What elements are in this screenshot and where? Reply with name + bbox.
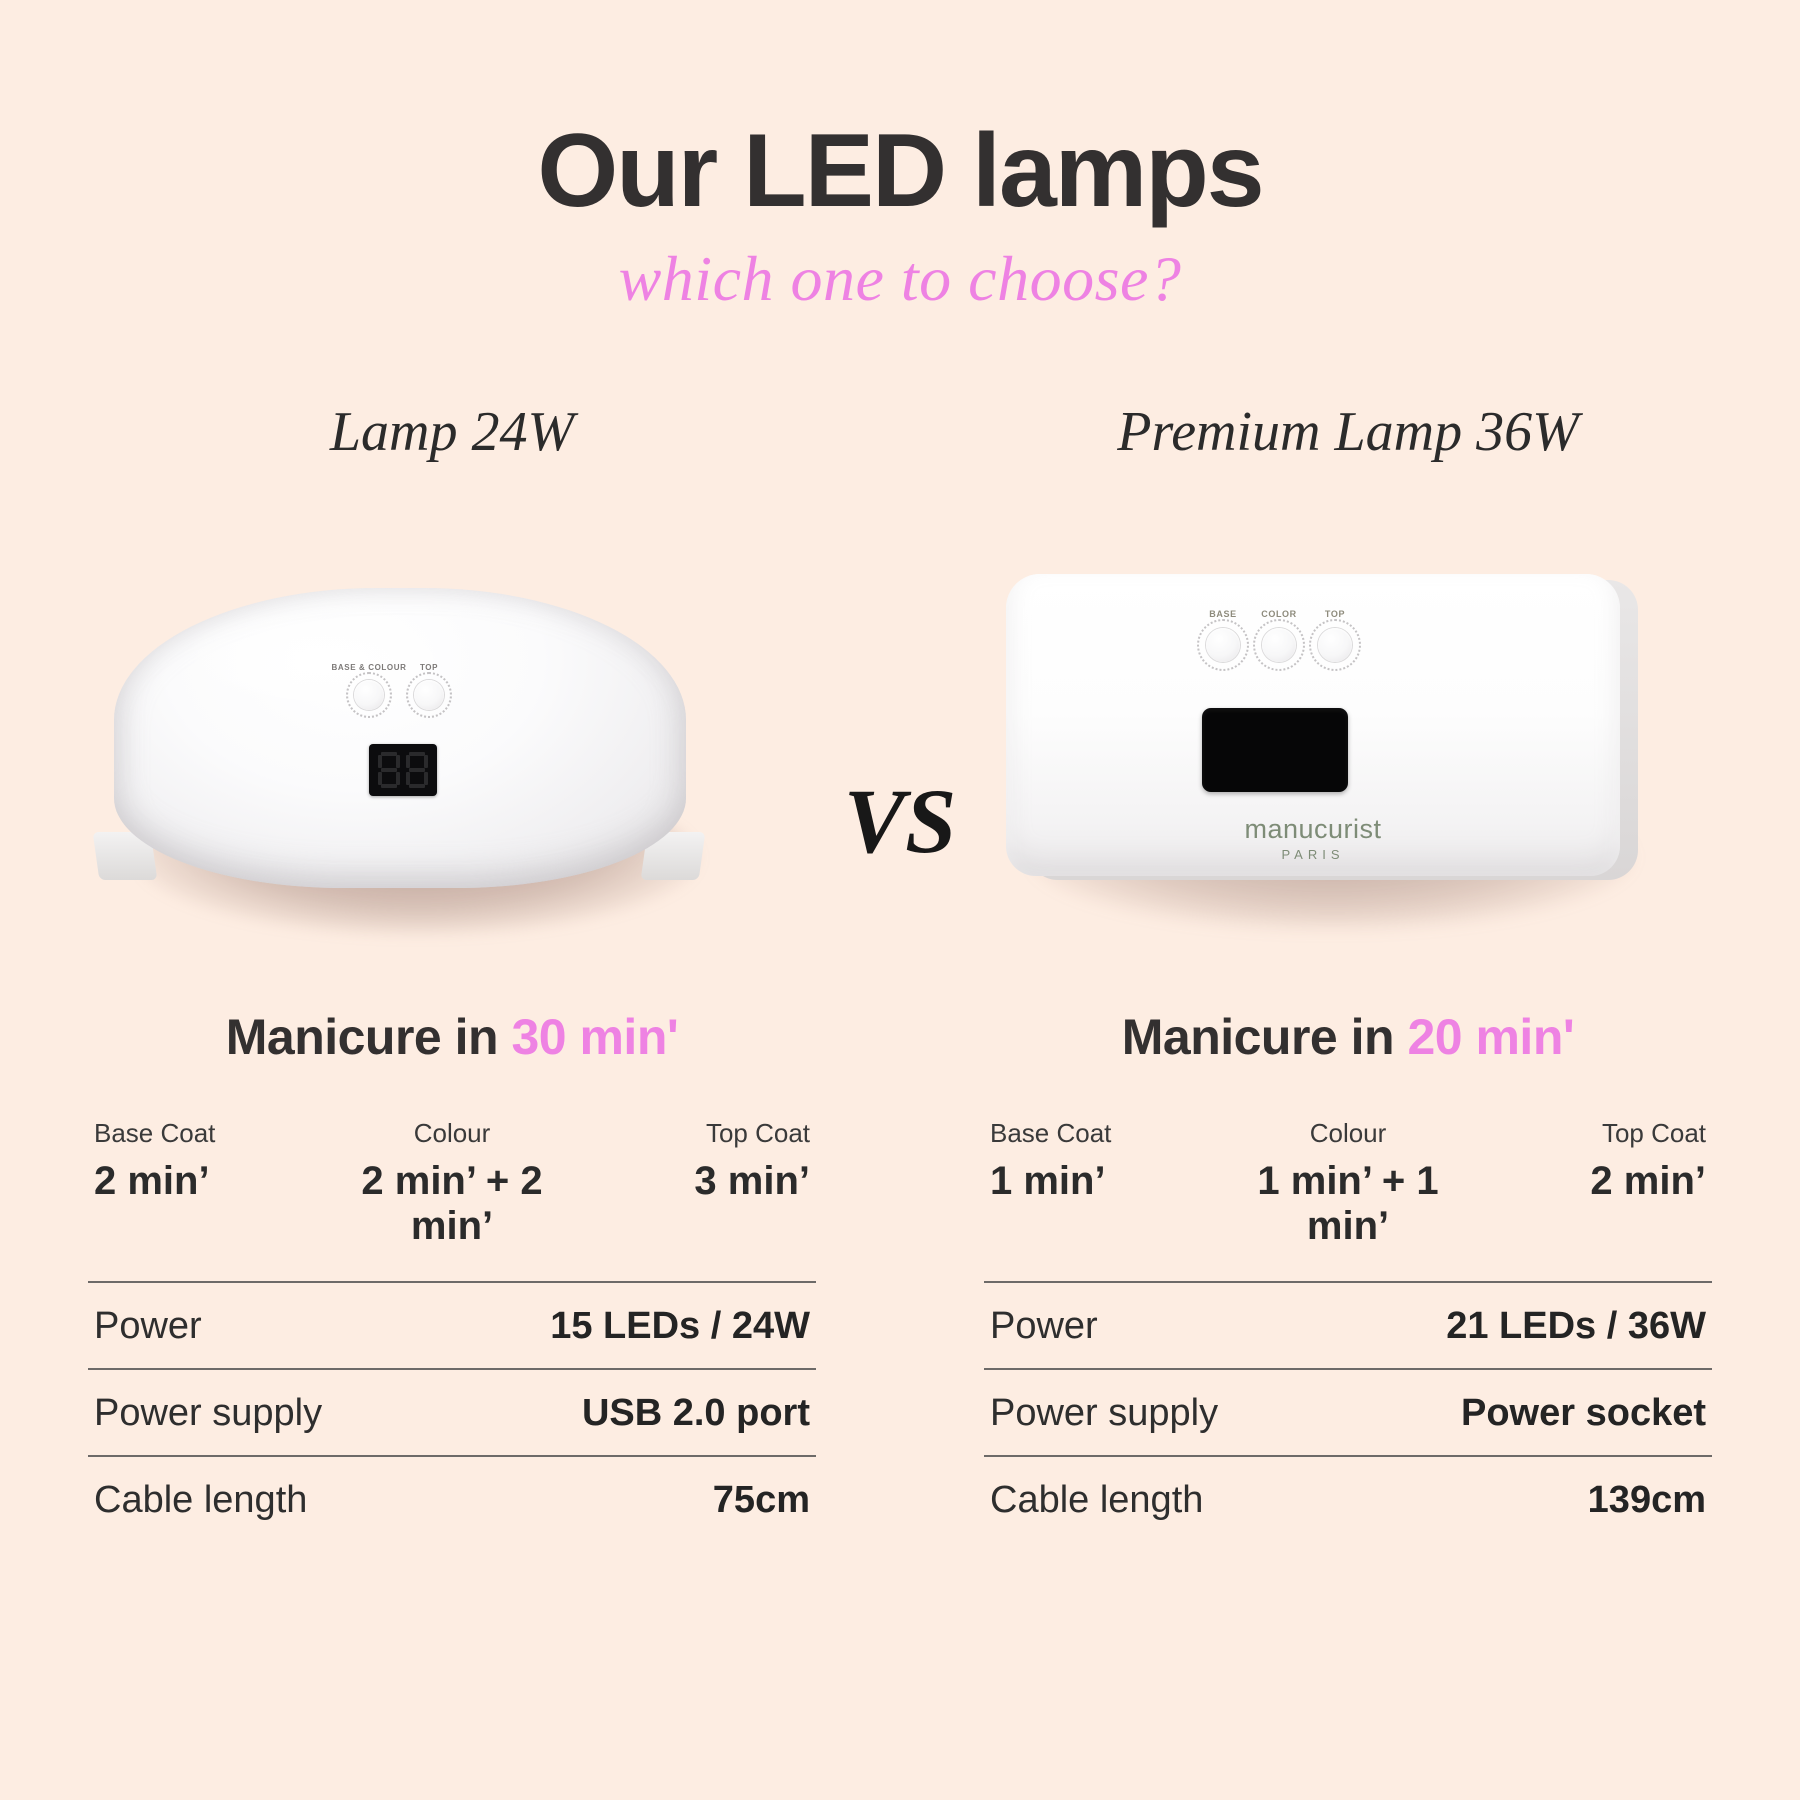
manicure-time-lamp-24w: Manicure in 30 min'	[88, 1008, 816, 1066]
product-column-premium-lamp-36w: Premium Lamp 36W BASE	[984, 400, 1712, 1542]
spec-value: 75cm	[713, 1479, 810, 1522]
base-and-colour-button-label: BASE & COLOUR	[332, 663, 407, 672]
spec-row-power: Power 15 LEDs / 24W	[88, 1281, 816, 1368]
coat-headers: Base Coat Colour Top Coat	[984, 1118, 1712, 1149]
color-button-label: COLOR	[1261, 609, 1297, 619]
manicure-prefix: Manicure in	[1122, 1009, 1408, 1065]
coat-headers: Base Coat Colour Top Coat	[88, 1118, 816, 1149]
spec-row-cable-length: Cable length 75cm	[88, 1455, 816, 1542]
coat-header-base: Base Coat	[990, 1118, 1229, 1149]
coat-header-top: Top Coat	[1467, 1118, 1706, 1149]
top-button[interactable]: TOP	[1318, 628, 1352, 662]
button-dot-ring	[406, 672, 452, 718]
spec-row-power-supply: Power supply Power socket	[984, 1368, 1712, 1455]
button-dot-ring	[1253, 619, 1305, 671]
spec-value: Power socket	[1461, 1392, 1706, 1435]
comparison-columns: Lamp 24W BASE & COLOUR	[0, 400, 1800, 1542]
spec-key: Power supply	[990, 1392, 1218, 1435]
button-dot-ring	[346, 672, 392, 718]
spec-row-cable-length: Cable length 139cm	[984, 1455, 1712, 1542]
top-button[interactable]: TOP	[414, 680, 444, 710]
coat-header-colour: Colour	[333, 1118, 572, 1149]
coat-header-colour: Colour	[1229, 1118, 1468, 1149]
page-title: Our LED lamps	[0, 118, 1800, 224]
coat-value-colour: 2 min’ + 2 min’	[333, 1159, 572, 1249]
manicure-time-premium-lamp-36w: Manicure in 20 min'	[984, 1008, 1712, 1066]
manicure-prefix: Manicure in	[226, 1009, 512, 1065]
button-dot-ring	[1309, 619, 1361, 671]
page-header: Our LED lamps which one to choose?	[0, 0, 1800, 316]
lamp-control-buttons: BASE COLOR TOP	[1206, 628, 1352, 662]
spec-key: Power supply	[94, 1392, 322, 1435]
product-image-premium-lamp-36w: BASE COLOR TOP	[984, 496, 1712, 966]
spec-value: 15 LEDs / 24W	[550, 1305, 810, 1348]
product-name-lamp-24w: Lamp 24W	[88, 400, 816, 496]
product-column-lamp-24w: Lamp 24W BASE & COLOUR	[88, 400, 816, 1542]
coat-values: 1 min’ 1 min’ + 1 min’ 2 min’	[984, 1149, 1712, 1249]
spec-key: Power	[94, 1305, 202, 1348]
base-button[interactable]: BASE	[1206, 628, 1240, 662]
coat-value-top: 3 min’	[571, 1159, 810, 1249]
lamp-control-buttons: BASE & COLOUR TOP	[354, 680, 444, 710]
top-button-label: TOP	[420, 663, 438, 672]
spec-key: Power	[990, 1305, 1098, 1348]
button-dot-ring	[1197, 619, 1249, 671]
spec-key: Cable length	[990, 1479, 1203, 1522]
coat-value-base: 2 min’	[94, 1159, 333, 1249]
spec-value: USB 2.0 port	[582, 1392, 810, 1435]
color-button[interactable]: COLOR	[1262, 628, 1296, 662]
coat-value-colour: 1 min’ + 1 min’	[1229, 1159, 1468, 1249]
base-and-colour-button[interactable]: BASE & COLOUR	[354, 680, 384, 710]
spec-row-power-supply: Power supply USB 2.0 port	[88, 1368, 816, 1455]
product-image-lamp-24w: BASE & COLOUR TOP	[88, 496, 816, 966]
coat-values: 2 min’ 2 min’ + 2 min’ 3 min’	[88, 1149, 816, 1249]
manicure-duration: 30 min'	[511, 1009, 678, 1065]
coat-value-base: 1 min’	[990, 1159, 1229, 1249]
spec-table-lamp-24w: Base Coat Colour Top Coat 2 min’ 2 min’ …	[88, 1118, 816, 1542]
spec-key: Cable length	[94, 1479, 307, 1522]
top-button-label: TOP	[1325, 609, 1345, 619]
vs-separator: VS	[0, 768, 1800, 874]
base-button-label: BASE	[1209, 609, 1236, 619]
spec-row-power: Power 21 LEDs / 36W	[984, 1281, 1712, 1368]
spec-value: 21 LEDs / 36W	[1446, 1305, 1706, 1348]
manicure-duration: 20 min'	[1407, 1009, 1574, 1065]
coat-value-top: 2 min’	[1467, 1159, 1706, 1249]
product-name-premium-lamp-36w: Premium Lamp 36W	[984, 400, 1712, 496]
spec-table-premium-lamp-36w: Base Coat Colour Top Coat 1 min’ 1 min’ …	[984, 1118, 1712, 1542]
spec-value: 139cm	[1588, 1479, 1706, 1522]
page-subtitle: which one to choose?	[0, 242, 1800, 316]
coat-header-base: Base Coat	[94, 1118, 333, 1149]
coat-header-top: Top Coat	[571, 1118, 810, 1149]
